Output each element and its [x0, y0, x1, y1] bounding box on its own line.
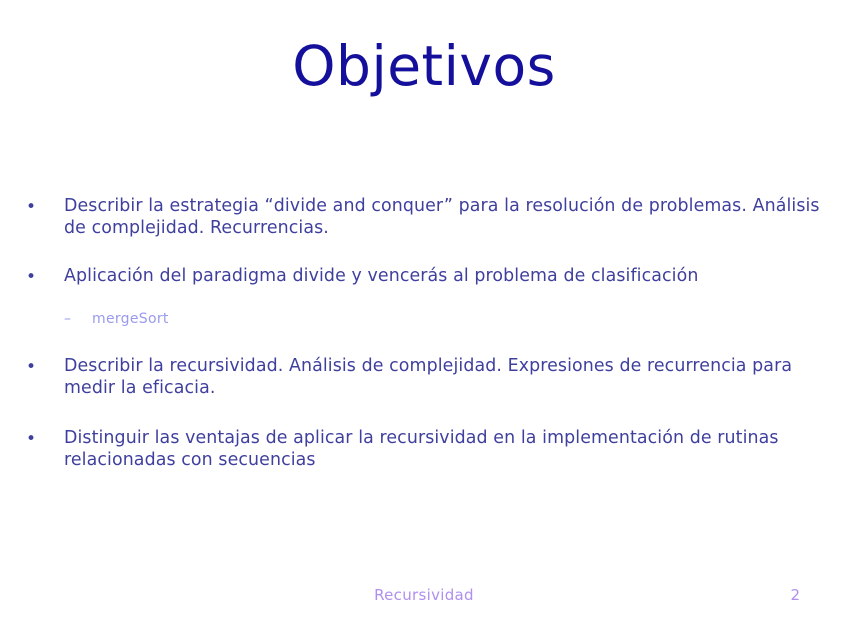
slide-footer: Recursividad 2 — [0, 586, 848, 608]
list-item-label: Aplicación del paradigma divide y vencer… — [64, 265, 826, 287]
list-item: • Distinguir las ventajas de aplicar la … — [26, 427, 826, 471]
dash-icon: – — [64, 310, 92, 329]
list-item: • Describir la recursividad. Análisis de… — [26, 355, 826, 399]
list-item-label: Describir la estrategia “divide and conq… — [64, 195, 826, 239]
list-item: • Describir la estrategia “divide and co… — [26, 195, 826, 239]
footer-label: Recursividad — [0, 586, 848, 604]
slide: Objetivos • Describir la estrategia “div… — [0, 0, 848, 636]
bullet-dot-icon: • — [26, 195, 64, 218]
sub-bullet-list: – mergeSort — [26, 310, 826, 329]
page-title: Objetivos — [0, 38, 848, 96]
bullet-dot-icon: • — [26, 265, 64, 288]
bullet-list: • Describir la estrategia “divide and co… — [26, 195, 826, 471]
sub-list-item-label: mergeSort — [92, 310, 826, 329]
sub-list-item: – mergeSort — [26, 310, 826, 329]
bullet-dot-icon: • — [26, 355, 64, 378]
list-item-label: Distinguir las ventajas de aplicar la re… — [64, 427, 826, 471]
page-number: 2 — [790, 586, 800, 604]
list-item: • Aplicación del paradigma divide y venc… — [26, 265, 826, 288]
bullet-dot-icon: • — [26, 427, 64, 450]
list-item-label: Describir la recursividad. Análisis de c… — [64, 355, 826, 399]
